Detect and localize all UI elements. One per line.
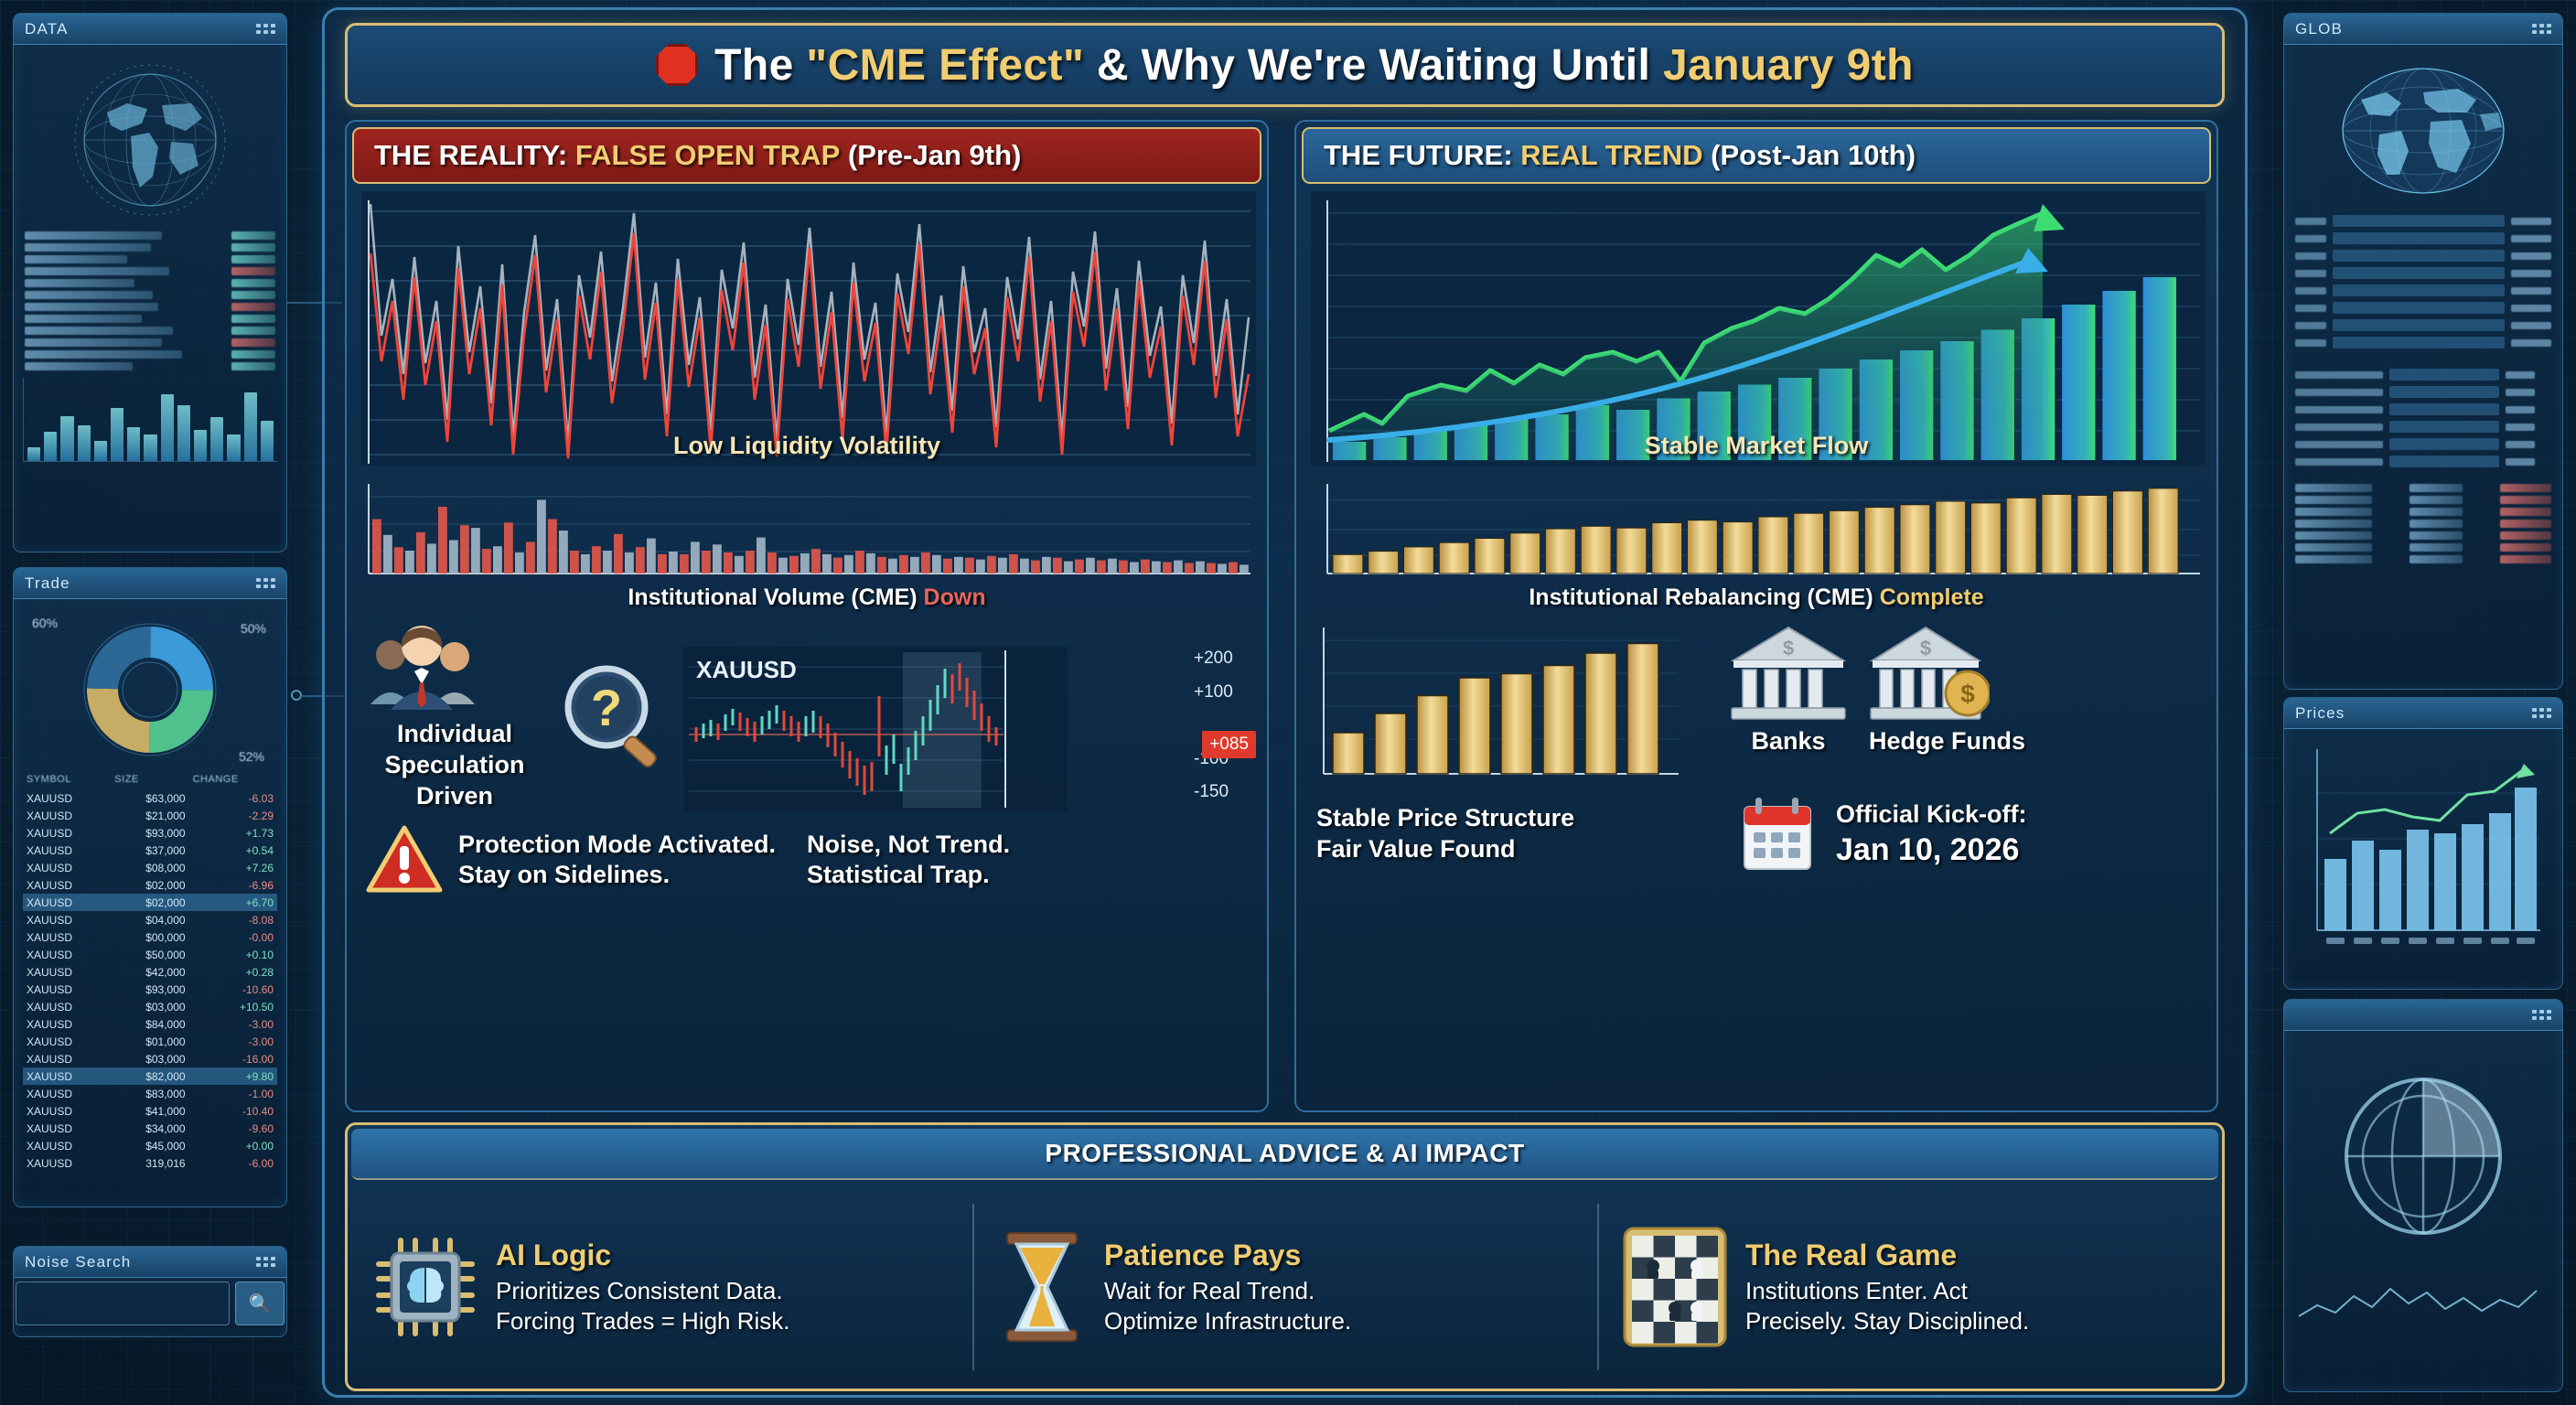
table-row[interactable]: XAUUSD$04,000-8.08 [23, 911, 277, 928]
note-text: Noise, Not Trend. Statistical Trap. [807, 830, 1010, 892]
trade-panel-header: Trade [14, 568, 286, 599]
svg-text:?: ? [591, 679, 622, 736]
institutions-icons: $ Banks $ [1728, 620, 2025, 757]
data-panel-header: DATA [14, 14, 286, 45]
list-item [2295, 403, 2551, 415]
warning-triangle-icon [365, 824, 444, 896]
cpu-brain-icon [371, 1233, 479, 1341]
bank-coin-icon: $ $ [1869, 620, 1990, 726]
real-game-text: The Real Game Institutions Enter. Act Pr… [1745, 1239, 2029, 1335]
kickoff-label: Official Kick-off: [1836, 799, 2027, 831]
trade-table[interactable]: SYMBOL SIZE CHANGE XAUUSD$63,000-6.03XAU… [23, 769, 277, 1172]
hedge-funds-block: $ $ Hedge Funds [1869, 620, 2025, 757]
cell-symbol: XAUUSD [23, 1067, 111, 1085]
glob-panel-body [2284, 45, 2562, 578]
title-highlight-date: January 9th [1663, 41, 1914, 90]
reality-head-highlight: FALSE OPEN TRAP [575, 139, 840, 172]
patience-text: Patience Pays Wait for Real Trend. Optim… [1104, 1239, 1351, 1335]
cell-size: $83,000 [111, 1085, 188, 1102]
cell-symbol: XAUUSD [23, 1120, 111, 1137]
glob-panel-title: GLOB [2295, 20, 2343, 38]
list-item [25, 267, 275, 275]
cell-symbol: XAUUSD [23, 894, 111, 911]
donut-label-3: 52% [239, 749, 264, 764]
menu-dots-icon[interactable] [256, 24, 275, 34]
menu-dots-icon[interactable] [2532, 1010, 2551, 1020]
cell-size: $02,000 [111, 876, 188, 894]
real-game-line2: Precisely. Stay Disciplined. [1745, 1306, 2029, 1336]
cell-size: $03,000 [111, 998, 188, 1015]
caption-institutional-volume: Institutional Volume (CME) Down [347, 585, 1267, 611]
globe-icon [23, 54, 277, 228]
cell-size: $42,000 [111, 963, 188, 981]
patience-line1: Wait for Real Trend. [1104, 1276, 1351, 1306]
patience-title: Patience Pays [1104, 1239, 1351, 1272]
people-group-icon [363, 620, 482, 719]
footer-title: PROFESSIONAL ADVICE & AI IMPACT [351, 1129, 2218, 1180]
list-item [25, 255, 275, 263]
cell-size: 319,016 [111, 1154, 188, 1172]
list-item [25, 350, 275, 359]
list-item [2295, 337, 2551, 349]
col-size: SIZE [111, 769, 188, 789]
cell-symbol: XAUUSD [23, 1137, 111, 1154]
cell-size: $08,000 [111, 859, 188, 876]
cell-symbol: XAUUSD [23, 1102, 111, 1120]
tick-100: +100 [1194, 682, 1250, 702]
table-row[interactable]: XAUUSD$50,000+0.10 [23, 946, 277, 963]
reality-head-label: THE REALITY: [374, 139, 567, 172]
price-line-1: Stable Price Structure [1316, 803, 1719, 834]
tick-200: +200 [1194, 649, 1250, 669]
hourglass-icon [996, 1229, 1088, 1345]
real-game-title: The Real Game [1745, 1239, 2029, 1272]
rebalancing-status-complete: Complete [1880, 585, 1984, 610]
cell-symbol: XAUUSD [23, 842, 111, 859]
stop-sign-icon [656, 44, 698, 86]
cell-change: -6.03 [189, 789, 277, 807]
list-item [2295, 232, 2551, 244]
hedge-funds-label: Hedge Funds [1869, 726, 2025, 757]
list-item [2295, 456, 2551, 467]
cell-size: $01,000 [111, 1033, 188, 1050]
cell-change: +10.50 [189, 998, 277, 1015]
cell-size: $93,000 [111, 824, 188, 842]
cell-change: -6.00 [189, 1154, 277, 1172]
list-item [2295, 484, 2551, 492]
bottom-panel-body [2284, 1031, 2562, 1344]
reality-icons-row: Individual Speculation Driven ? [347, 620, 1267, 811]
svg-text:$: $ [1783, 637, 1794, 660]
cell-symbol: XAUUSD [23, 981, 111, 998]
cell-symbol: XAUUSD [23, 859, 111, 876]
search-panel-body: 🔍 [14, 1278, 286, 1329]
search-input[interactable] [16, 1282, 230, 1325]
trade-panel-title: Trade [25, 574, 70, 593]
cell-size: $03,000 [111, 1050, 188, 1067]
bank-building-icon: $ [1728, 620, 1849, 726]
cell-symbol: XAUUSD [23, 963, 111, 981]
list-item [25, 362, 275, 370]
cell-size: $63,000 [111, 789, 188, 807]
table-row[interactable]: XAUUSD$00,000-0.00 [23, 928, 277, 946]
table-row[interactable]: XAUUSD319,016-6.00 [23, 1154, 277, 1172]
menu-dots-icon[interactable] [2532, 24, 2551, 34]
calendar-icon [1739, 794, 1816, 874]
page-title-text: The "CME Effect" & Why We're Waiting Unt… [714, 40, 1914, 91]
sidebar-panel-prices[interactable]: Prices [2283, 697, 2563, 990]
table-row[interactable]: XAUUSD$63,000-6.03 [23, 789, 277, 807]
cell-size: $02,000 [111, 894, 188, 911]
svg-text:$: $ [1920, 637, 1931, 660]
cell-change: +0.00 [189, 1137, 277, 1154]
globe-wire-icon [2293, 1040, 2553, 1256]
sidebar-panel-glob[interactable]: GLOB [2283, 13, 2563, 690]
cell-symbol: XAUUSD [23, 807, 111, 824]
cell-change: -6.96 [189, 876, 277, 894]
list-item [2295, 215, 2551, 227]
caption-institutional-rebalancing: Institutional Rebalancing (CME) Complete [1296, 585, 2216, 611]
table-row[interactable]: XAUUSD$02,000+6.70 [23, 894, 277, 911]
glob-panel-header: GLOB [2284, 14, 2562, 45]
data-panel-body [14, 45, 286, 473]
grid-dots-icon[interactable] [256, 1257, 275, 1267]
chart-stable-price-structure [1313, 620, 1697, 785]
reality-head-suffix: (Pre-Jan 9th) [848, 139, 1021, 172]
data-panel-title: DATA [25, 20, 69, 38]
xauusd-axis-ticks: +200 +100 . -100 -150 [1194, 649, 1250, 802]
glob-table-rows [2293, 484, 2553, 563]
sidebar-panel-bottom[interactable] [2283, 999, 2563, 1392]
real-game-line1: Institutions Enter. Act [1745, 1276, 2029, 1306]
footer-cards: AI Logic Prioritizes Consistent Data. Fo… [348, 1184, 2222, 1390]
table-row[interactable]: XAUUSD$21,000-2.29 [23, 807, 277, 824]
list-item [2295, 508, 2551, 516]
future-footer-row: Stable Price Structure Fair Value Found … [1296, 785, 2216, 874]
cell-symbol: XAUUSD [23, 1154, 111, 1172]
future-icons-row: $ Banks $ [1296, 620, 2216, 785]
table-row[interactable]: XAUUSD$83,000-1.00 [23, 1085, 277, 1102]
cell-size: $93,000 [111, 981, 188, 998]
cell-symbol: XAUUSD [23, 946, 111, 963]
cell-change: +7.26 [189, 859, 277, 876]
list-item [25, 231, 275, 240]
search-panel-header: Noise Search [14, 1247, 286, 1278]
cell-symbol: XAUUSD [23, 876, 111, 894]
trade-table-body: XAUUSD$63,000-6.03XAUUSD$21,000-2.29XAUU… [23, 789, 277, 1172]
cell-change: -9.60 [189, 1120, 277, 1137]
tick-neg150: -150 [1194, 782, 1250, 802]
trade-panel-body: 60% 50% 52% SYMBOL SIZE CHANGE XAUUSD$63… [14, 599, 286, 1183]
chart-caption-stable-flow: Stable Market Flow [1311, 432, 2202, 460]
col-symbol: SYMBOL [23, 769, 111, 789]
cell-symbol: XAUUSD [23, 1033, 111, 1050]
cell-size: $84,000 [111, 1015, 188, 1033]
volume-status-down: Down [924, 585, 986, 610]
cell-size: $82,000 [111, 1067, 188, 1085]
globe-icon [2293, 54, 2553, 209]
cell-change: -0.00 [189, 928, 277, 946]
list-item [2295, 421, 2551, 433]
table-row[interactable]: XAUUSD$03,000-16.00 [23, 1050, 277, 1067]
xauusd-mini-chart: XAUUSD +200 +100 . -100 -150 +085 [683, 647, 1250, 811]
warn-line-2: Stay on Sidelines. [458, 860, 776, 891]
page-title: The "CME Effect" & Why We're Waiting Unt… [345, 23, 2225, 107]
table-row[interactable]: XAUUSD$34,000-9.60 [23, 1120, 277, 1137]
prices-panel-title: Prices [2295, 704, 2345, 723]
cell-symbol: XAUUSD [23, 911, 111, 928]
list-item [2295, 284, 2551, 296]
list-item [2295, 250, 2551, 262]
cell-change: -1.00 [189, 1085, 277, 1102]
cell-symbol: XAUUSD [23, 928, 111, 946]
footer-card-real-game[interactable]: The Real Game Institutions Enter. Act Pr… [1597, 1184, 2222, 1390]
list-item [2295, 531, 2551, 540]
donut-chart: 60% 50% 52% [23, 608, 277, 769]
cell-size: $45,000 [111, 1137, 188, 1154]
warning-text: Protection Mode Activated. Stay on Sidel… [458, 830, 776, 892]
chart-low-liquidity-volatility: Low Liquidity Volatility [361, 191, 1252, 466]
footer-advice-panel: PROFESSIONAL ADVICE & AI IMPACT [345, 1122, 2225, 1391]
data-rows-list [23, 231, 277, 370]
future-head-suffix: (Post-Jan 10th) [1711, 139, 1916, 172]
glob-metrics-list [2293, 369, 2553, 467]
patience-line2: Optimize Infrastructure. [1104, 1306, 1351, 1336]
table-row[interactable]: XAUUSD$84,000-3.00 [23, 1015, 277, 1033]
panel-reality-header: THE REALITY: FALSE OPEN TRAP (Pre-Jan 9t… [352, 127, 1261, 184]
table-row[interactable]: XAUUSD$42,000+0.28 [23, 963, 277, 981]
svg-text:$: $ [1960, 680, 1975, 708]
sparkline [2293, 1269, 2546, 1333]
panel-future-header: THE FUTURE: REAL TREND (Post-Jan 10th) [1302, 127, 2211, 184]
xauusd-price-tag: +085 [1202, 731, 1256, 758]
cell-change: +0.54 [189, 842, 277, 859]
title-highlight-cme: "CME Effect" [806, 41, 1084, 90]
deco-dot [291, 690, 302, 701]
table-row[interactable]: XAUUSD$03,000+10.50 [23, 998, 277, 1015]
list-item [2295, 369, 2551, 381]
list-item [2295, 496, 2551, 504]
ai-logic-text: AI Logic Prioritizes Consistent Data. Fo… [496, 1239, 790, 1335]
cell-size: $00,000 [111, 928, 188, 946]
table-row[interactable]: XAUUSD$37,000+0.54 [23, 842, 277, 859]
chart-caption-volatility: Low Liquidity Volatility [361, 432, 1252, 460]
cell-symbol: XAUUSD [23, 789, 111, 807]
cell-change: -2.29 [189, 807, 277, 824]
bottom-panel-header [2284, 1000, 2562, 1031]
list-item [2295, 267, 2551, 279]
individual-speculation-block: Individual Speculation Driven [363, 620, 546, 811]
donut-label-2: 50% [241, 621, 266, 636]
banks-block: $ Banks [1728, 620, 1849, 757]
cell-change: +0.28 [189, 963, 277, 981]
magnifier-question-icon: ? [555, 663, 674, 773]
cell-size: $41,000 [111, 1102, 188, 1120]
list-item [2295, 438, 2551, 450]
cell-change: -3.00 [189, 1015, 277, 1033]
list-item [2295, 555, 2551, 563]
chart-institutional-rebalancing [1311, 478, 2202, 579]
footer-card-patience-pays[interactable]: Patience Pays Wait for Real Trend. Optim… [972, 1184, 1597, 1390]
chart-stable-market-flow: Stable Market Flow [1311, 191, 2202, 466]
list-item [25, 338, 275, 347]
list-item [25, 243, 275, 252]
list-item [25, 303, 275, 311]
list-item [25, 327, 275, 335]
sidebar-panel-data[interactable]: DATA [13, 13, 287, 552]
individual-label: Individual Speculation Driven [363, 719, 546, 811]
sidebar-panel-trade[interactable]: Trade 60% 50% 52% SYMBOL SIZE CHANGE XAU… [13, 567, 287, 1207]
list-item [2295, 319, 2551, 331]
list-item [25, 291, 275, 299]
cell-change: +1.73 [189, 824, 277, 842]
glob-bars-list [2293, 215, 2553, 349]
data-panel-barchart [23, 378, 277, 462]
list-item [2295, 386, 2551, 398]
table-row[interactable]: XAUUSD$41,000-10.40 [23, 1102, 277, 1120]
table-row[interactable]: XAUUSD$02,000-6.96 [23, 876, 277, 894]
warning-block: Protection Mode Activated. Stay on Sidel… [347, 811, 1267, 896]
table-row[interactable]: XAUUSD$82,000+9.80 [23, 1067, 277, 1085]
table-row[interactable]: XAUUSD$08,000+7.26 [23, 859, 277, 876]
cell-size: $04,000 [111, 911, 188, 928]
sidebar-panel-search[interactable]: Noise Search 🔍 [13, 1246, 287, 1337]
kickoff-date: Jan 10, 2026 [1836, 831, 2027, 870]
warn-line-1: Protection Mode Activated. [458, 830, 776, 861]
table-row[interactable]: XAUUSD$45,000+0.00 [23, 1137, 277, 1154]
cell-change: -10.40 [189, 1102, 277, 1120]
cell-size: $21,000 [111, 807, 188, 824]
cell-symbol: XAUUSD [23, 1085, 111, 1102]
list-item [25, 315, 275, 323]
kickoff-text: Official Kick-off: Jan 10, 2026 [1836, 799, 2027, 869]
future-head-label: THE FUTURE: [1324, 139, 1513, 172]
list-item [2295, 543, 2551, 552]
cell-change: +0.10 [189, 946, 277, 963]
table-header-row: SYMBOL SIZE CHANGE [23, 769, 277, 789]
prices-chart [2293, 738, 2549, 967]
xauusd-symbol: XAUUSD [696, 656, 797, 683]
list-item [2295, 520, 2551, 528]
ai-logic-line2: Forcing Trades = High Risk. [496, 1306, 790, 1336]
table-row[interactable]: XAUUSD$01,000-3.00 [23, 1033, 277, 1050]
chart-institutional-volume [361, 478, 1252, 579]
menu-dots-icon[interactable] [2532, 708, 2551, 718]
chessboard-icon [1621, 1223, 1729, 1351]
price-structure-text: Stable Price Structure Fair Value Found [1316, 803, 1719, 865]
cell-size: $37,000 [111, 842, 188, 859]
cell-change: -10.60 [189, 981, 277, 998]
menu-dots-icon[interactable] [256, 578, 275, 588]
cell-change: +6.70 [189, 894, 277, 911]
prices-panel-body [2284, 729, 2562, 978]
col-change: CHANGE [189, 769, 277, 789]
panel-reality: THE REALITY: FALSE OPEN TRAP (Pre-Jan 9t… [345, 120, 1269, 1112]
note-line-1: Noise, Not Trend. [807, 830, 1010, 861]
cell-change: -8.08 [189, 911, 277, 928]
search-panel-title: Noise Search [25, 1253, 131, 1271]
donut-label-1: 60% [32, 616, 58, 630]
cell-size: $50,000 [111, 946, 188, 963]
banks-label: Banks [1728, 726, 1849, 757]
ai-logic-line1: Prioritizes Consistent Data. [496, 1276, 790, 1306]
table-row[interactable]: XAUUSD$93,000-10.60 [23, 981, 277, 998]
cell-change: +9.80 [189, 1067, 277, 1085]
main-stage: The "CME Effect" & Why We're Waiting Unt… [322, 7, 2248, 1398]
cell-symbol: XAUUSD [23, 998, 111, 1015]
cell-change: -16.00 [189, 1050, 277, 1067]
cell-symbol: XAUUSD [23, 1050, 111, 1067]
prices-panel-header: Prices [2284, 698, 2562, 729]
list-item [2295, 302, 2551, 314]
ai-logic-title: AI Logic [496, 1239, 790, 1272]
cell-symbol: XAUUSD [23, 1015, 111, 1033]
table-row[interactable]: XAUUSD$93,000+1.73 [23, 824, 277, 842]
price-line-2: Fair Value Found [1316, 834, 1719, 865]
cell-change: -3.00 [189, 1033, 277, 1050]
panel-future: THE FUTURE: REAL TREND (Post-Jan 10th) [1294, 120, 2218, 1112]
footer-card-ai-logic[interactable]: AI Logic Prioritizes Consistent Data. Fo… [348, 1184, 972, 1390]
list-item [25, 279, 275, 287]
cell-size: $34,000 [111, 1120, 188, 1137]
future-head-highlight: REAL TREND [1520, 139, 1702, 172]
cell-symbol: XAUUSD [23, 824, 111, 842]
note-line-2: Statistical Trap. [807, 860, 1010, 891]
search-icon[interactable]: 🔍 [235, 1282, 284, 1325]
